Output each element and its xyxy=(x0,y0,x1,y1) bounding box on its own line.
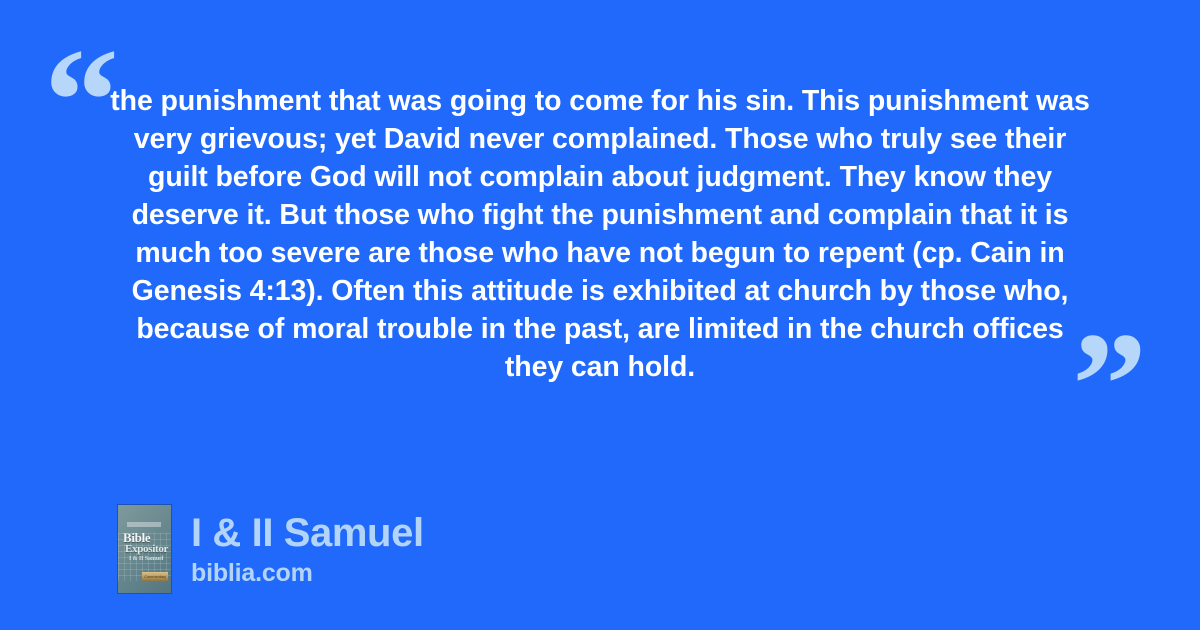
quote-text: the punishment that was going to come fo… xyxy=(110,82,1090,386)
cover-subtitle: I & II Samuel xyxy=(129,556,163,562)
quote-block: the punishment that was going to come fo… xyxy=(110,82,1090,386)
opening-quote-icon: “ xyxy=(44,26,119,176)
cover-band-text: Commentary xyxy=(144,575,166,579)
cover-top-label xyxy=(127,522,161,527)
closing-quote-icon: ” xyxy=(1072,310,1147,460)
cover-title-line-2: Expositor xyxy=(125,544,168,555)
footer: Bible Expositor I & II Samuel Commentary… xyxy=(118,505,424,593)
book-cover-thumbnail: Bible Expositor I & II Samuel Commentary xyxy=(118,505,171,593)
book-title: I & II Samuel xyxy=(191,511,424,555)
quote-card: “ the punishment that was going to come … xyxy=(0,0,1200,630)
footer-text-group: I & II Samuel biblia.com xyxy=(191,511,424,587)
site-name: biblia.com xyxy=(191,559,424,587)
